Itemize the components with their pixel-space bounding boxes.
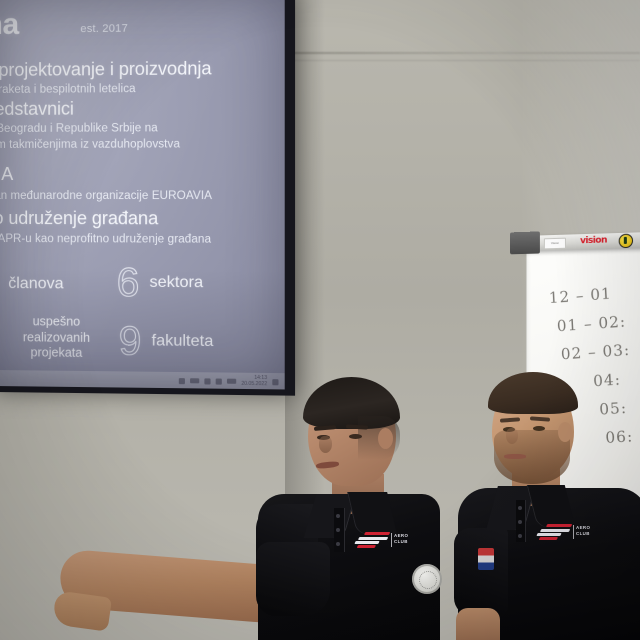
shirt-button [518, 506, 522, 510]
stat-item: 7 uspešno realizovanih projekata [0, 314, 103, 362]
stat-label: članova [8, 275, 63, 293]
hair [488, 372, 578, 414]
mouth [504, 454, 526, 459]
stat-label: uspešno realizovanih projekata [10, 314, 103, 362]
presentation-slide: nama est. 2017 čun, projektovanje i proi… [0, 0, 285, 389]
projection-screen: nama est. 2017 čun, projektovanje i proi… [0, 0, 285, 389]
logo-swoosh-icon [353, 532, 393, 548]
slide-subtext-1: tipova raketa i bespilotnih letelica [0, 83, 136, 96]
slide-title-note: est. 2017 [80, 23, 128, 36]
shirt-button [518, 534, 522, 538]
sleeve-patch-icon [412, 564, 442, 594]
stat-item: 6 sektora [117, 263, 203, 304]
stat-label: fakulteta [152, 332, 214, 351]
ear [378, 428, 393, 449]
slide-statistics: 6 članova 6 sektora 7 uspešno realizovan… [0, 258, 285, 259]
whiteboard-note: 12 – 01 [548, 284, 612, 307]
slide-heading-3: OAVIA [0, 164, 13, 185]
slide-heading-2: ni predstavnici [0, 99, 74, 121]
stat-item: 9 fakulteta [119, 321, 214, 362]
whiteboard-tag: Vision [544, 237, 566, 249]
eye-right [349, 434, 362, 439]
logo-wordmark: AERO CLUB [394, 533, 411, 546]
slide-subtext-4: vani u APR-u kao neprofitno udruženje gr… [0, 233, 211, 246]
shirt-button [336, 542, 340, 546]
stat-label: sektora [149, 274, 203, 292]
polo-sleeve [454, 528, 508, 616]
whiteboard-note: 02 – 03: [561, 341, 631, 364]
pointing-hand [52, 590, 112, 631]
logo-divider [573, 525, 574, 539]
team-logo: AERO CLUB [538, 524, 594, 542]
shirt-button [336, 514, 340, 518]
team-logo: AERO CLUB [356, 532, 412, 550]
logo-line-2: CLUB [576, 531, 593, 537]
logo-wordmark: AERO CLUB [576, 525, 593, 538]
slide-subtext-2b: arodnim takmičenjima iz vazduhoplovstva [0, 138, 180, 151]
polo-sleeve [256, 542, 330, 616]
slide-subtext-3: van član međunarodne organizacije EUROAV… [0, 190, 212, 202]
logo-divider [391, 533, 392, 547]
stat-item: 6 članova [0, 264, 64, 305]
whiteboard-emblem-icon [619, 234, 633, 249]
whiteboard-brand-label: vision [580, 235, 607, 246]
projection-screen-frame: nama est. 2017 čun, projektovanje i proi… [0, 0, 295, 396]
eye-right [533, 426, 545, 431]
arm [456, 608, 500, 640]
nose [319, 436, 332, 453]
whiteboard-rail-end-cap [510, 231, 540, 254]
slide-subtext-2a: teta u Beogradu i Republike Srbije na [0, 122, 158, 135]
stat-number: 6 [117, 263, 140, 303]
shirt-button [336, 528, 340, 532]
slide-title: nama [0, 8, 19, 43]
stat-number: 9 [119, 321, 142, 362]
shirt-button [518, 520, 522, 524]
logo-swoosh-icon [535, 524, 575, 540]
person-left: AERO CLUB [60, 382, 440, 640]
slide-heading-4: ofitno udruženje građana [0, 208, 158, 229]
person-right: AERO CLUB [458, 378, 640, 640]
whiteboard-note: 01 – 02: [556, 312, 626, 335]
slide-heading-1: čun, projektovanje i proizvodnja [0, 58, 212, 81]
ear [558, 422, 572, 442]
nose [506, 428, 518, 444]
logo-line-2: CLUB [394, 539, 411, 545]
flag-patch-icon [478, 548, 494, 570]
photo-scene: nama est. 2017 čun, projektovanje i proi… [0, 0, 640, 640]
